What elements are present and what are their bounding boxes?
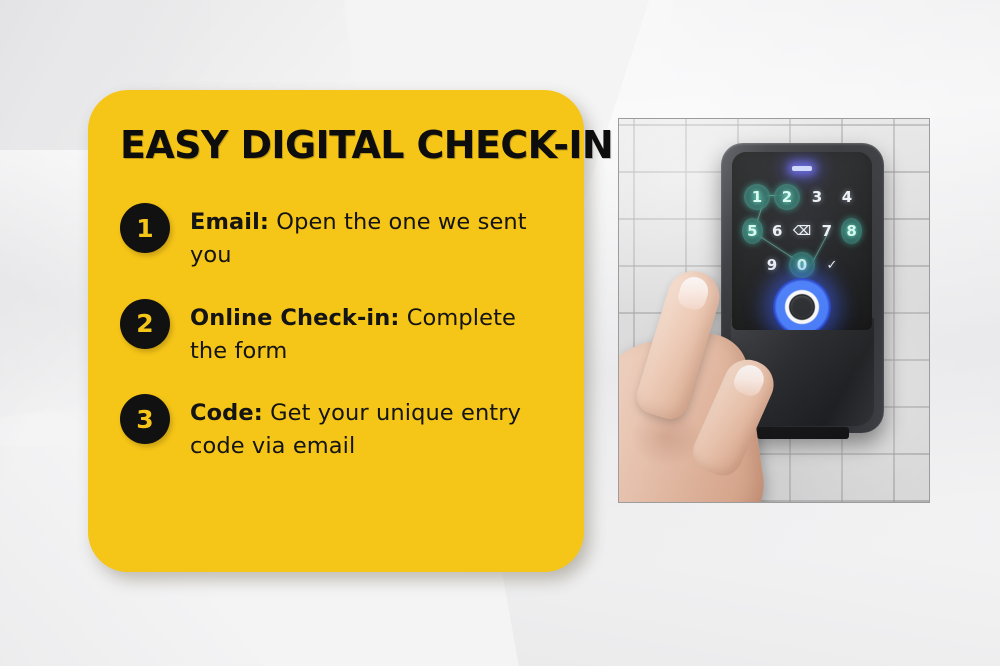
key-1[interactable]: 1: [744, 184, 770, 210]
backspace-icon[interactable]: ⌫: [792, 218, 813, 244]
step-text: Email: Open the one we sent you: [190, 206, 554, 273]
keypad-row: 9 0 ✓: [740, 248, 864, 282]
smart-lock-photo: 1 2 3 4 5 6 ⌫ 7 8 9 0 ✓: [618, 118, 930, 503]
step-text: Code: Get your unique entry code via ema…: [190, 397, 554, 464]
checkmark-icon[interactable]: ✓: [819, 252, 845, 278]
page-title: EASY DIGITAL CHECK-IN: [120, 126, 554, 164]
instructions-card: EASY DIGITAL CHECK-IN 1 Email: Open the …: [88, 90, 584, 572]
status-led-icon: [792, 166, 812, 171]
step-text: Online Check-in: Complete the form: [190, 302, 554, 369]
fingernail: [730, 361, 768, 400]
key-9[interactable]: 9: [759, 252, 785, 278]
step-label: Online Check-in:: [190, 305, 399, 331]
keypad-row: 1 2 3 4: [740, 180, 864, 214]
hand-illustration: [618, 279, 807, 503]
step-number-badge: 1: [120, 203, 170, 253]
key-8[interactable]: 8: [841, 218, 862, 244]
step-label: Code:: [190, 400, 263, 426]
key-5[interactable]: 5: [742, 218, 763, 244]
key-4[interactable]: 4: [834, 184, 860, 210]
steps-list: 1 Email: Open the one we sent you 2 Onli…: [120, 206, 554, 464]
step-number-badge: 2: [120, 299, 170, 349]
list-item: 2 Online Check-in: Complete the form: [120, 302, 554, 369]
step-number-badge: 3: [120, 394, 170, 444]
key-3[interactable]: 3: [804, 184, 830, 210]
key-6[interactable]: 6: [767, 218, 788, 244]
list-item: 3 Code: Get your unique entry code via e…: [120, 397, 554, 464]
keypad-row: 5 6 ⌫ 7 8: [740, 214, 864, 248]
key-2[interactable]: 2: [774, 184, 800, 210]
fingernail: [675, 274, 711, 313]
keypad[interactable]: 1 2 3 4 5 6 ⌫ 7 8 9 0 ✓: [732, 180, 872, 282]
key-0[interactable]: 0: [789, 252, 815, 278]
step-label: Email:: [190, 209, 269, 235]
list-item: 1 Email: Open the one we sent you: [120, 206, 554, 273]
key-7[interactable]: 7: [816, 218, 837, 244]
